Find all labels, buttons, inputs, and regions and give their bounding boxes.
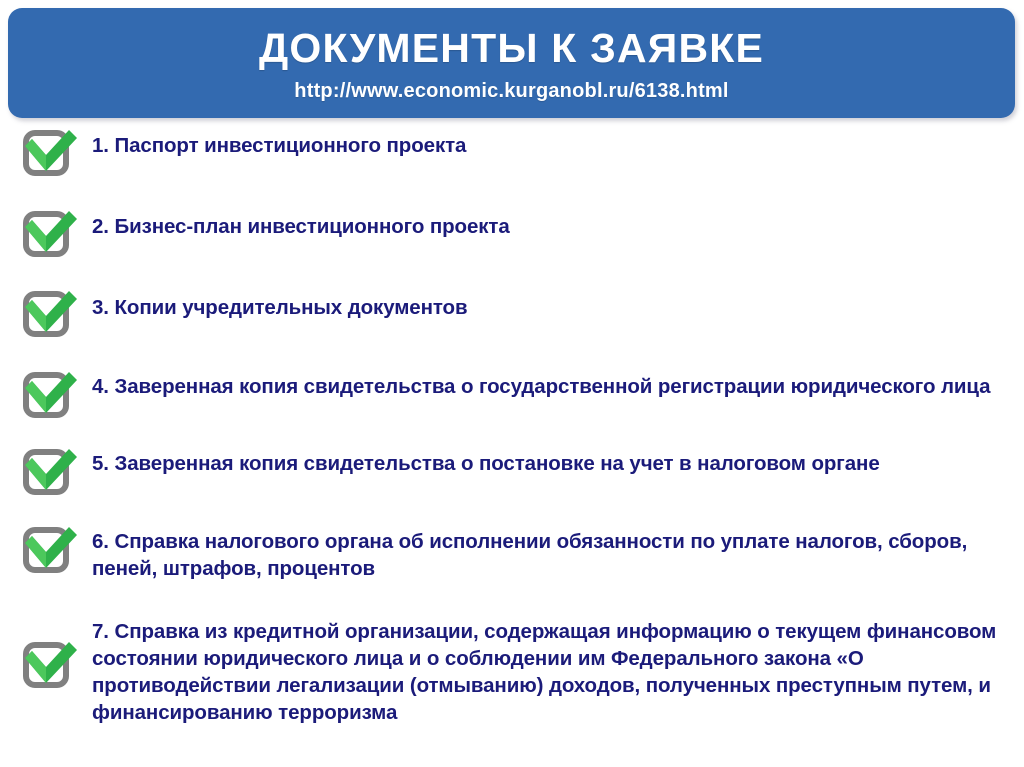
list-item-label: 2. Бизнес-план инвестиционного проекта	[92, 213, 1014, 240]
list-item-label: 4. Заверенная копия свидетельства о госу…	[92, 373, 1014, 400]
list-item-label: 7. Справка из кредитной организации, сод…	[92, 618, 1014, 726]
checkbox-checked-icon	[22, 209, 80, 257]
list-item[interactable]: 4. Заверенная копия свидетельства о госу…	[0, 373, 1024, 419]
slide-root: ДОКУМЕНТЫ К ЗАЯВКЕ http://www.economic.k…	[0, 0, 1024, 767]
checkbox-checked-icon	[22, 525, 80, 573]
list-item-label: 6. Справка налогового органа об исполнен…	[92, 528, 1014, 582]
checkbox-checked-icon	[22, 370, 80, 418]
list-item[interactable]: 6. Справка налогового органа об исполнен…	[0, 528, 1024, 582]
checkbox-checked-icon	[22, 447, 80, 495]
checkbox-checked-icon	[22, 289, 80, 337]
source-url-text: http://www.economic.kurganobl.ru/6138.ht…	[294, 80, 728, 103]
header-banner: ДОКУМЕНТЫ К ЗАЯВКЕ http://www.economic.k…	[8, 8, 1015, 118]
list-item[interactable]: 3. Копии учредительных документов	[0, 294, 1024, 340]
list-item[interactable]: 2. Бизнес-план инвестиционного проекта	[0, 213, 1024, 259]
list-item[interactable]: 7. Справка из кредитной организации, сод…	[0, 618, 1024, 726]
document-checklist: 1. Паспорт инвестиционного проекта 2. Би…	[0, 122, 1024, 726]
list-item[interactable]: 5. Заверенная копия свидетельства о пост…	[0, 450, 1024, 496]
list-item[interactable]: 1. Паспорт инвестиционного проекта	[0, 132, 1024, 178]
checkbox-checked-icon	[22, 128, 80, 176]
page-title: ДОКУМЕНТЫ К ЗАЯВКЕ	[259, 27, 764, 70]
list-item-label: 3. Копии учредительных документов	[92, 294, 1014, 321]
checkbox-checked-icon	[22, 640, 80, 688]
list-item-label: 5. Заверенная копия свидетельства о пост…	[92, 450, 1014, 477]
list-item-label: 1. Паспорт инвестиционного проекта	[92, 132, 1014, 159]
